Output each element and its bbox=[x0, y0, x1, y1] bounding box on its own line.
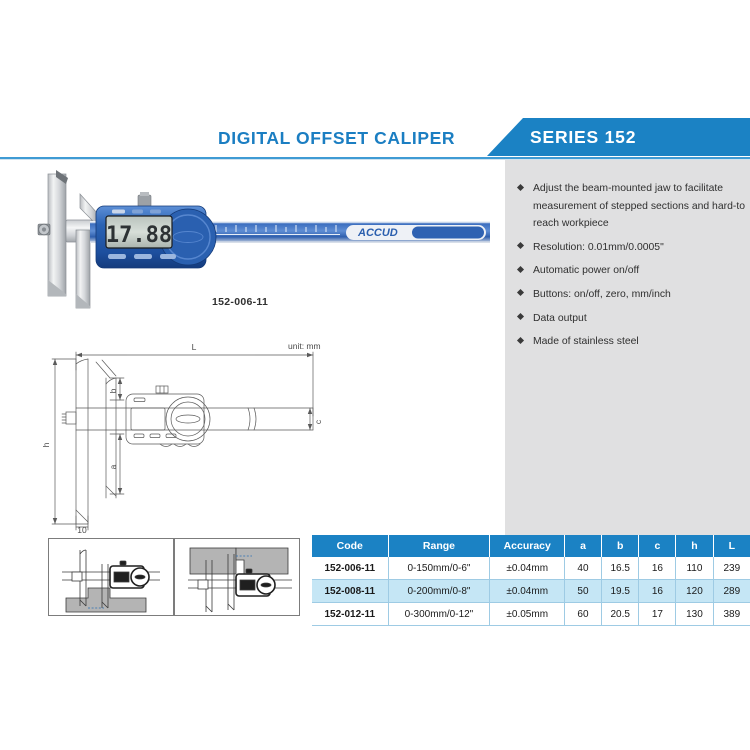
cell-h: 110 bbox=[676, 557, 713, 580]
product-photo: ACCUD 17.88 bbox=[20, 168, 490, 313]
application-diagrams bbox=[48, 538, 300, 616]
cell-code: 152-008-11 bbox=[312, 580, 388, 603]
cell-L: 389 bbox=[713, 603, 750, 626]
column-header-L: L bbox=[713, 535, 750, 557]
table-header-row: Code Range Accuracy a b c h L bbox=[312, 535, 750, 557]
technical-drawing: L unit: mm h a b c 10 bbox=[30, 338, 330, 533]
list-item: Buttons: on/off, zero, mm/inch bbox=[516, 286, 748, 304]
dim-label-b: b bbox=[108, 388, 118, 393]
cell-a: 60 bbox=[565, 603, 602, 626]
diamond-bullet-icon bbox=[517, 242, 524, 249]
column-header-code: Code bbox=[312, 535, 388, 557]
diamond-bullet-icon bbox=[517, 266, 524, 273]
diamond-bullet-icon bbox=[517, 289, 524, 296]
datasheet-page: DIGITAL OFFSET CALIPER SERIES 152 Adjust… bbox=[0, 0, 750, 750]
feature-text: Buttons: on/off, zero, mm/inch bbox=[533, 289, 671, 300]
feature-list: Adjust the beam-mounted jaw to facilitat… bbox=[516, 180, 748, 357]
cell-c: 16 bbox=[639, 557, 676, 580]
feature-text: Adjust the beam-mounted jaw to facilitat… bbox=[533, 183, 745, 229]
diamond-bullet-icon bbox=[517, 183, 524, 190]
list-item: Data output bbox=[516, 310, 748, 328]
cell-h: 120 bbox=[676, 580, 713, 603]
table-row: 152-012-11 0-300mm/0-12" ±0.05mm 60 20.5… bbox=[312, 603, 750, 626]
list-item: Made of stainless steel bbox=[516, 333, 748, 351]
table-row: 152-008-11 0-200mm/0-8" ±0.04mm 50 19.5 … bbox=[312, 580, 750, 603]
brand-text: ACCUD bbox=[357, 227, 398, 239]
cell-accuracy: ±0.04mm bbox=[490, 580, 565, 603]
lcd-value: 17.88 bbox=[106, 223, 172, 248]
dim-label-L: L bbox=[192, 342, 197, 352]
cell-L: 289 bbox=[713, 580, 750, 603]
column-header-b: b bbox=[601, 535, 639, 557]
cell-code: 152-006-11 bbox=[312, 557, 388, 580]
cell-b: 20.5 bbox=[601, 603, 639, 626]
list-item: Automatic power on/off bbox=[516, 262, 748, 280]
list-item: Resolution: 0.01mm/0.0005" bbox=[516, 239, 748, 257]
specification-table: Code Range Accuracy a b c h L 152-006-11… bbox=[312, 535, 750, 626]
product-caption: 152-006-11 bbox=[212, 296, 268, 308]
cell-range: 0-300mm/0-12" bbox=[388, 603, 490, 626]
dim-label-c: c bbox=[313, 419, 323, 424]
column-header-c: c bbox=[639, 535, 676, 557]
cell-b: 16.5 bbox=[601, 557, 639, 580]
series-label: SERIES 152 bbox=[530, 127, 636, 148]
cell-code: 152-012-11 bbox=[312, 603, 388, 626]
unit-note: unit: mm bbox=[288, 341, 321, 351]
diamond-bullet-icon bbox=[517, 313, 524, 320]
dim-label-10: 10 bbox=[77, 525, 87, 533]
cell-accuracy: ±0.05mm bbox=[490, 603, 565, 626]
table-row: 152-006-11 0-150mm/0-6" ±0.04mm 40 16.5 … bbox=[312, 557, 750, 580]
cell-range: 0-200mm/0-8" bbox=[388, 580, 490, 603]
cell-b: 19.5 bbox=[601, 580, 639, 603]
dim-label-h: h bbox=[41, 442, 51, 447]
column-header-range: Range bbox=[388, 535, 490, 557]
column-header-h: h bbox=[676, 535, 713, 557]
cell-h: 130 bbox=[676, 603, 713, 626]
diamond-bullet-icon bbox=[517, 337, 524, 344]
cell-c: 17 bbox=[639, 603, 676, 626]
cell-a: 50 bbox=[565, 580, 602, 603]
cell-c: 16 bbox=[639, 580, 676, 603]
cell-L: 239 bbox=[713, 557, 750, 580]
cell-accuracy: ±0.04mm bbox=[490, 557, 565, 580]
dim-label-a: a bbox=[108, 464, 118, 469]
list-item: Adjust the beam-mounted jaw to facilitat… bbox=[516, 180, 748, 233]
cell-range: 0-150mm/0-6" bbox=[388, 557, 490, 580]
feature-text: Automatic power on/off bbox=[533, 265, 639, 276]
feature-text: Data output bbox=[533, 313, 587, 324]
cell-a: 40 bbox=[565, 557, 602, 580]
feature-text: Resolution: 0.01mm/0.0005" bbox=[533, 242, 664, 253]
column-header-a: a bbox=[565, 535, 602, 557]
page-title: DIGITAL OFFSET CALIPER bbox=[218, 128, 455, 149]
feature-text: Made of stainless steel bbox=[533, 336, 639, 347]
column-header-accuracy: Accuracy bbox=[490, 535, 565, 557]
